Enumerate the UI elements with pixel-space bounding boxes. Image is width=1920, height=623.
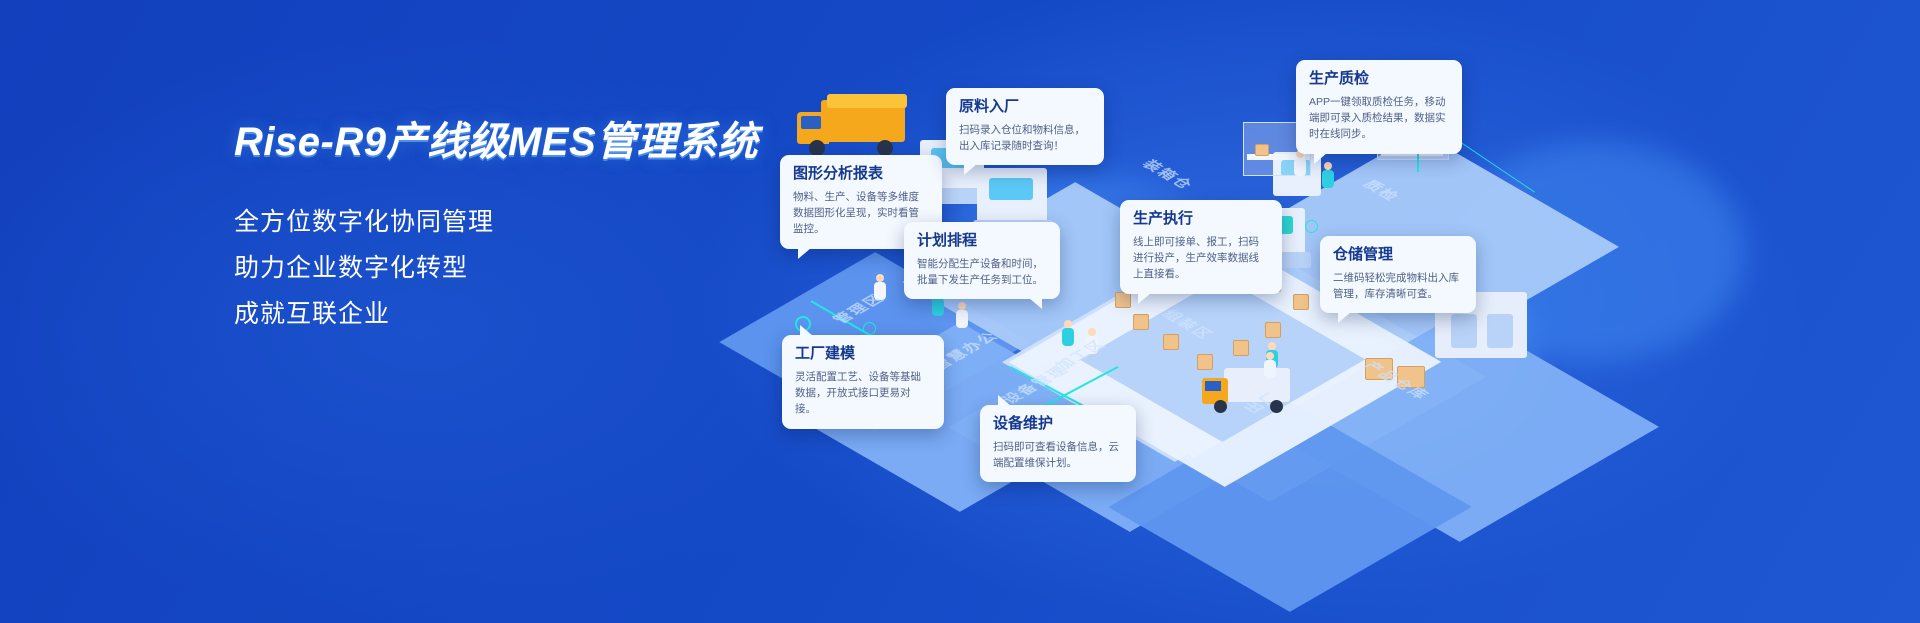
hero-subheadings: 全方位数字化协同管理 助力企业数字化转型 成就互联企业 bbox=[234, 199, 794, 337]
hero-copy: Rise-R9产线级MES管理系统 全方位数字化协同管理 助力企业数字化转型 成… bbox=[234, 120, 794, 337]
worker-figure bbox=[955, 302, 969, 332]
worker-figure bbox=[1293, 150, 1307, 180]
truck-wheel bbox=[809, 140, 825, 156]
card-title: 原料入厂 bbox=[959, 98, 1091, 117]
worker-head bbox=[1088, 328, 1096, 336]
worker-figure bbox=[1263, 352, 1277, 382]
headline-chinese: 产线级MES管理系统 bbox=[386, 120, 758, 164]
card-tail bbox=[1138, 293, 1151, 304]
card-title: 计划排程 bbox=[917, 232, 1047, 251]
pallet bbox=[1115, 292, 1131, 308]
worker-torso bbox=[932, 298, 944, 316]
hero-banner: Rise-R9产线级MES管理系统 全方位数字化协同管理 助力企业数字化转型 成… bbox=[0, 0, 1920, 623]
card-factory-modeling[interactable]: 工厂建模 灵活配置工艺、设备等基础数据，开放式接口更易对接。 bbox=[782, 335, 944, 429]
card-tail bbox=[798, 248, 811, 259]
card-tail bbox=[964, 164, 977, 175]
machine-panel bbox=[989, 178, 1033, 200]
truck-window bbox=[1205, 381, 1221, 391]
pallet bbox=[1265, 322, 1281, 338]
card-description: 线上即可接单、报工，扫码进行投产，生产效率数据线上直接看。 bbox=[1133, 234, 1269, 283]
worker-torso bbox=[1062, 328, 1074, 346]
card-tail bbox=[1338, 312, 1351, 323]
leader-dot-modeling bbox=[863, 322, 876, 335]
leader-dot-execution bbox=[1305, 220, 1318, 233]
card-description: 扫码即可查看设备信息，云端配置维保计划。 bbox=[993, 439, 1123, 472]
card-description: 扫码录入仓位和物料信息，出入库记录随时查询！ bbox=[959, 122, 1091, 155]
card-title: 工厂建模 bbox=[795, 345, 931, 364]
pallet bbox=[1255, 144, 1269, 156]
worker-head bbox=[1064, 320, 1072, 328]
card-tail bbox=[800, 325, 813, 336]
card-title: 仓储管理 bbox=[1333, 246, 1463, 265]
card-description: 灵活配置工艺、设备等基础数据，开放式接口更易对接。 bbox=[795, 369, 931, 418]
pallet bbox=[1293, 294, 1309, 310]
worker-head bbox=[958, 302, 966, 310]
pallet bbox=[1233, 340, 1249, 356]
truck-wheel bbox=[877, 140, 893, 156]
card-description: 智能分配生产设备和时间，批量下发生产任务到工位。 bbox=[917, 256, 1047, 289]
worker-head bbox=[876, 274, 884, 282]
subheading-3: 成就互联企业 bbox=[234, 291, 794, 337]
card-tail bbox=[1314, 153, 1327, 164]
worker-head bbox=[1268, 342, 1276, 350]
card-production-execution[interactable]: 生产执行 线上即可接单、报工，扫码进行投产，生产效率数据线上直接看。 bbox=[1120, 200, 1282, 294]
card-material-inbound[interactable]: 原料入厂 扫码录入仓位和物料信息，出入库记录随时查询！ bbox=[946, 88, 1104, 165]
worker-torso bbox=[1294, 158, 1306, 176]
card-description: 二维码轻松完成物料出入库管理，库存清晰可查。 bbox=[1333, 270, 1463, 303]
worker-torso bbox=[1264, 360, 1276, 378]
pallet bbox=[1163, 334, 1179, 350]
truck-window bbox=[801, 116, 821, 129]
worker-figure bbox=[1061, 320, 1075, 350]
card-description: APP一键领取质检任务，移动端即可录入质检结果，数据实时在线同步。 bbox=[1309, 94, 1449, 143]
card-quality-inspection[interactable]: 生产质检 APP一键领取质检任务，移动端即可录入质检结果，数据实时在线同步。 bbox=[1296, 60, 1462, 154]
worker-head bbox=[1266, 352, 1274, 360]
headline-brand: Rise-R9 bbox=[234, 120, 386, 164]
card-title: 设备维护 bbox=[993, 415, 1123, 434]
card-equipment-maintenance[interactable]: 设备维护 扫码即可查看设备信息，云端配置维保计划。 bbox=[980, 405, 1136, 482]
subheading-2: 助力企业数字化转型 bbox=[234, 245, 794, 291]
worker-figure bbox=[1321, 162, 1335, 192]
truck-wheel bbox=[1214, 400, 1227, 413]
worker-torso bbox=[956, 310, 968, 328]
card-title: 生产质检 bbox=[1309, 70, 1449, 89]
subheading-1: 全方位数字化协同管理 bbox=[234, 199, 794, 245]
page-title: Rise-R9产线级MES管理系统 bbox=[234, 120, 794, 164]
truck-body-top bbox=[827, 94, 907, 108]
worker-torso bbox=[1322, 170, 1334, 188]
card-warehouse-management[interactable]: 仓储管理 二维码轻松完成物料出入库管理，库存清晰可查。 bbox=[1320, 236, 1476, 313]
card-plan-scheduling[interactable]: 计划排程 智能分配生产设备和时间，批量下发生产任务到工位。 bbox=[904, 222, 1060, 299]
card-title: 图形分析报表 bbox=[793, 165, 929, 184]
warehouse-door bbox=[1451, 314, 1477, 348]
warehouse-door bbox=[1487, 314, 1513, 348]
pallet bbox=[1133, 314, 1149, 330]
card-tail bbox=[998, 395, 1011, 406]
card-tail bbox=[1029, 298, 1042, 309]
card-title: 生产执行 bbox=[1133, 210, 1269, 229]
